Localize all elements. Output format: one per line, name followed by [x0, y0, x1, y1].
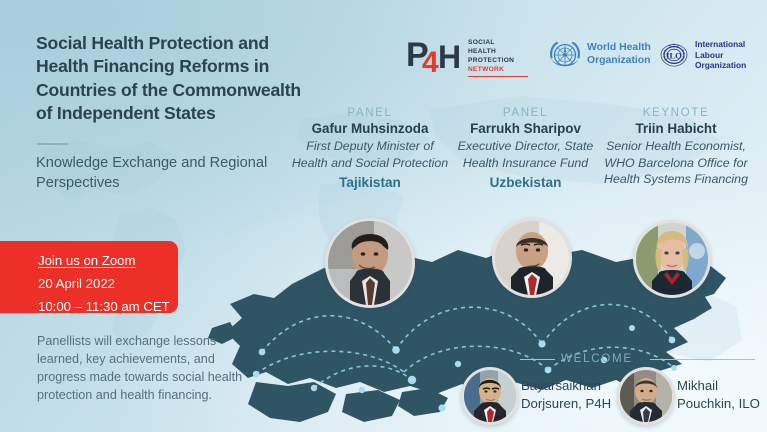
welcome-name-1-line2: Dorjsuren, P4H	[521, 395, 611, 413]
svg-text:NETWORK: NETWORK	[468, 66, 504, 73]
speaker-title-2b: Health Insurance Fund	[443, 156, 608, 172]
welcome-photo-1	[461, 367, 519, 425]
who-emblem-icon	[548, 38, 582, 72]
title-divider	[37, 143, 68, 145]
speaker-block-3: KEYNOTE Triin Habicht Senior Health Econ…	[590, 106, 762, 188]
speaker-title-1b: Health and Social Protection	[288, 156, 452, 172]
welcome-photo-2	[617, 367, 675, 425]
svg-text:HEALTH: HEALTH	[468, 48, 496, 55]
event-date: 20 April 2022	[38, 273, 178, 296]
logo-bar: P H 4 SOCIAL HEALTH PROTECTION NETWORK	[406, 30, 756, 82]
svg-text:ILO: ILO	[666, 50, 682, 60]
speaker-block-2: PANEL Farrukh Sharipov Executive Directo…	[443, 106, 608, 190]
speaker-title-3a: Senior Health Economist,	[590, 139, 762, 155]
event-time: 10:00 – 11:30 am CET	[38, 296, 178, 319]
who-logo-text: World Health Organization	[587, 42, 651, 67]
svg-text:H: H	[438, 39, 461, 75]
speaker-country-2: Uzbekistan	[443, 175, 608, 190]
ilo-logo-text: International Labour Organization	[695, 39, 746, 72]
speaker-role-3: KEYNOTE	[590, 106, 762, 119]
who-logo: World Health Organization	[548, 35, 651, 75]
ilo-name-line1: International	[695, 39, 746, 50]
welcome-name-2-line2: Pouchkin, ILO	[677, 395, 760, 413]
welcome-rule-left	[520, 359, 555, 360]
speaker-country-1: Tajikistan	[288, 175, 452, 190]
speaker-title-3c: Health Systems Financing	[590, 172, 762, 188]
speaker-title-3b: WHO Barcelona Office for	[590, 156, 762, 172]
speaker-photo-3	[633, 220, 711, 298]
svg-text:SOCIAL: SOCIAL	[468, 39, 495, 46]
description-text: Panellists will exchange lessons learned…	[37, 333, 265, 405]
speaker-block-1: PANEL Gafur Muhsinzoda First Deputy Mini…	[288, 106, 452, 190]
welcome-name-2-line1: Mikhail	[677, 377, 760, 395]
speaker-photo-2	[492, 218, 572, 298]
welcome-label: WELCOME	[561, 352, 633, 365]
welcome-name-2: Mikhail Pouchkin, ILO	[677, 377, 760, 413]
speaker-title-1a: First Deputy Minister of	[288, 139, 452, 155]
welcome-header: WELCOME	[520, 352, 760, 366]
ilo-emblem-icon: ILO	[658, 39, 690, 71]
ilo-name-line2: Labour	[695, 50, 746, 61]
speaker-name-1: Gafur Muhsinzoda	[288, 121, 452, 138]
welcome-name-1-line1: Bayarsaikhan	[521, 377, 611, 395]
page-title: Social Health Protection and Health Fina…	[36, 32, 314, 126]
welcome-rule-right	[650, 359, 755, 360]
who-name-line1: World Health	[587, 42, 651, 55]
ilo-logo: ILO International Labour Organization	[658, 35, 746, 75]
speaker-name-2: Farrukh Sharipov	[443, 121, 608, 138]
svg-text:4: 4	[422, 46, 439, 79]
page-subtitle: Knowledge Exchange and Regional Perspect…	[36, 153, 286, 193]
ilo-name-line3: Organization	[695, 60, 746, 71]
svg-text:PROTECTION: PROTECTION	[468, 57, 514, 64]
join-zoom-box[interactable]: Join us on Zoom 20 April 2022 10:00 – 11…	[0, 241, 178, 313]
speaker-title-2a: Executive Director, State	[443, 139, 608, 155]
speaker-role-2: PANEL	[443, 106, 608, 119]
speaker-name-3: Triin Habicht	[590, 121, 762, 138]
p4h-logo: P H 4 SOCIAL HEALTH PROTECTION NETWORK	[406, 32, 531, 80]
speaker-role-1: PANEL	[288, 106, 452, 119]
who-name-line2: Organization	[587, 55, 651, 68]
poster-canvas: Social Health Protection and Health Fina…	[0, 0, 767, 432]
speaker-photo-1	[325, 218, 415, 308]
welcome-name-1: Bayarsaikhan Dorjsuren, P4H	[521, 377, 611, 413]
join-zoom-link[interactable]: Join us on Zoom	[38, 250, 178, 273]
